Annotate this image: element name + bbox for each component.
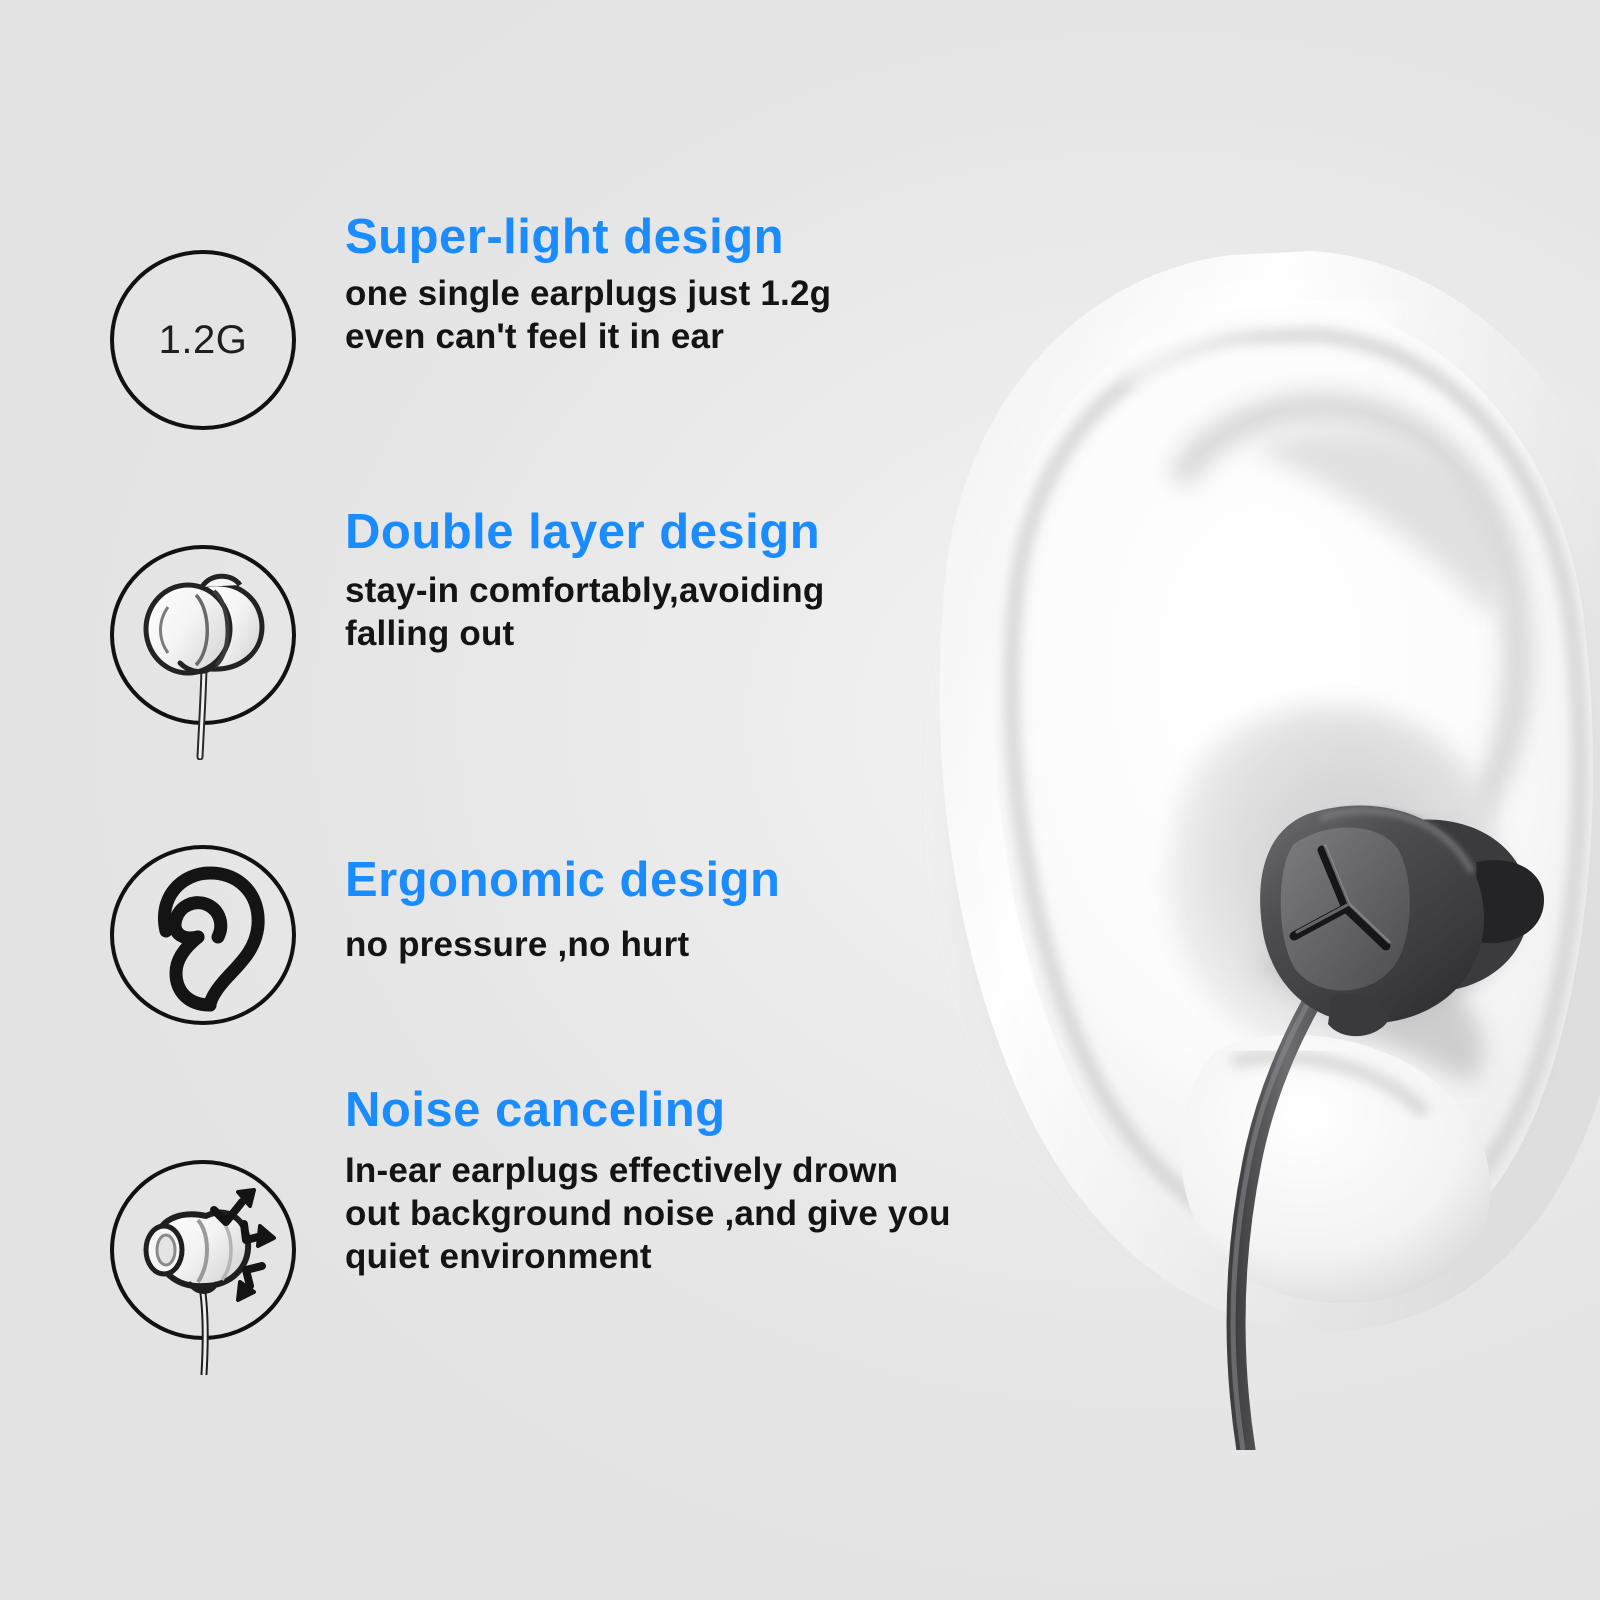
feature-icon-ergonomic: [110, 845, 296, 1025]
feature-list: 1.2G Super-light design one single earpl…: [0, 0, 1080, 1600]
earbud-double-layer-icon: [110, 545, 296, 725]
feature-description: no pressure ,no hurt: [345, 924, 1075, 967]
feature-title: Double layer design: [345, 507, 1075, 558]
noise-canceling-icon: [110, 1160, 296, 1340]
ear-outline-icon: [110, 845, 296, 1025]
feature-description: stay-in comfortably,avoiding falling out: [345, 570, 1075, 655]
feature-title: Ergonomic design: [345, 855, 1075, 906]
product-infographic: 1.2G Super-light design one single earpl…: [0, 0, 1600, 1600]
feature-title: Super-light design: [345, 212, 1075, 263]
feature-description: In-ear earplugs effectively drown out ba…: [345, 1150, 1075, 1278]
feature-text-super-light: Super-light design one single earplugs j…: [345, 212, 1075, 359]
feature-title: Noise canceling: [345, 1085, 1075, 1136]
earbud-double-layer-svg: [110, 545, 296, 760]
feature-icon-double-layer: [110, 545, 296, 725]
noise-canceling-svg: [110, 1160, 296, 1375]
feature-text-double-layer: Double layer design stay-in comfortably,…: [345, 507, 1075, 656]
feature-text-noise-canceling: Noise canceling In-ear earplugs effectiv…: [345, 1085, 1075, 1279]
ear-outline-svg: [110, 845, 296, 1025]
feature-icon-noise-canceling: [110, 1160, 296, 1340]
feature-text-ergonomic: Ergonomic design no pressure ,no hurt: [345, 845, 1075, 967]
feature-description: one single earplugs just 1.2g even can't…: [345, 273, 1075, 358]
weight-badge-icon: 1.2G: [110, 250, 296, 430]
feature-icon-super-light: 1.2G: [110, 250, 296, 430]
